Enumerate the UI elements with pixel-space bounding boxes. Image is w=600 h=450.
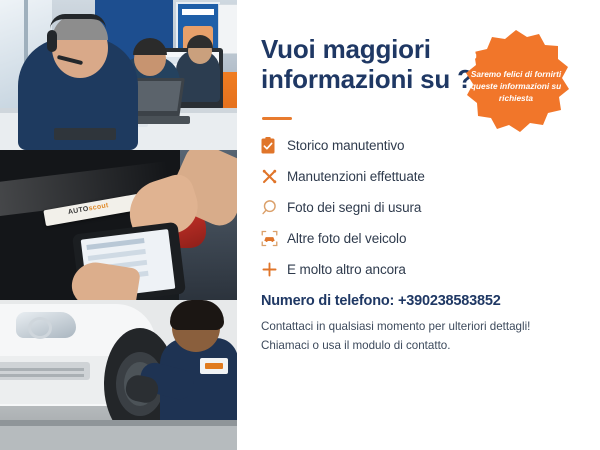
page-title: Vuoi maggiori informazioni su ? — [261, 34, 491, 95]
info-on-request-badge: Saremo felici di fornirti queste informa… — [459, 28, 573, 142]
phone-number[interactable]: Numero di telefono: +390238583852 — [261, 293, 501, 309]
feature-label: Manutenzioni effettuate — [287, 169, 425, 184]
photo-column: AUTOscout — [0, 0, 237, 450]
headline-line-2: informazioni su ? — [261, 64, 491, 94]
contact-line-2: Chiamaci o usa il modulo di contatto. — [261, 337, 551, 356]
feature-list: Storico manutentivo Manutenzioni effettu… — [261, 131, 511, 286]
magnifier-icon — [261, 196, 287, 218]
feature-item-storico-manutentivo[interactable]: Storico manutentivo — [261, 131, 511, 159]
feature-label: Foto dei segni di usura — [287, 200, 421, 215]
vehicle-inspection-tablet-photo: AUTOscout — [0, 150, 237, 300]
clipboard-check-icon — [261, 134, 287, 156]
title-divider — [262, 117, 292, 120]
contact-text: Contattaci in qualsiasi momento per ulte… — [261, 318, 551, 356]
feature-label: Storico manutentivo — [287, 138, 404, 153]
feature-label: Altre foto del veicolo — [287, 231, 406, 246]
headline-line-1: Vuoi maggiori — [261, 34, 491, 64]
feature-item-manutenzioni-effettuate[interactable]: Manutenzioni effettuate — [261, 162, 511, 190]
badge-text: Saremo felici di fornirti queste informa… — [469, 68, 563, 104]
tools-cross-icon — [261, 165, 287, 187]
feature-item-molto-altro[interactable]: E molto altro ancora — [261, 255, 511, 283]
feature-item-altre-foto-veicolo[interactable]: Altre foto del veicolo — [261, 224, 511, 252]
mechanic-wheel-photo — [0, 300, 237, 450]
promo-card: AUTOscout Vuoi maggiori informazioni su … — [0, 0, 600, 450]
feature-item-foto-segni-usura[interactable]: Foto dei segni di usura — [261, 193, 511, 221]
call-center-agents-photo — [0, 0, 237, 150]
plus-icon — [261, 258, 287, 280]
car-frame-icon — [261, 227, 287, 249]
contact-line-1: Contattaci in qualsiasi momento per ulte… — [261, 318, 551, 337]
feature-label: E molto altro ancora — [287, 262, 406, 277]
content-panel: Vuoi maggiori informazioni su ? Saremo f… — [237, 0, 600, 450]
